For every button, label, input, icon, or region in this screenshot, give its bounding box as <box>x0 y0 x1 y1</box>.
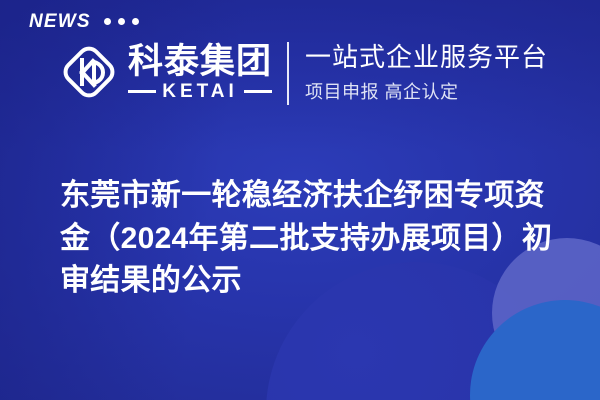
ketai-diamond-kp-monogram-icon <box>58 41 120 103</box>
dot-icon <box>104 18 111 25</box>
tagline-main: 一站式企业服务平台 <box>305 42 548 73</box>
logo-company-name-en: KETAI <box>162 82 238 101</box>
eyebrow-dots-icon <box>104 18 139 25</box>
logo-company-name-cn: 科泰集团 <box>128 44 272 79</box>
logo-en-row: KETAI <box>128 82 272 101</box>
dot-icon <box>132 18 139 25</box>
logo-rule-left <box>128 90 156 93</box>
tagline-sub: 项目申报 高企认定 <box>305 82 548 104</box>
news-banner: NEWS 科泰集团 K <box>0 0 600 400</box>
logo-wordmark: 科泰集团 KETAI <box>128 44 272 101</box>
dot-icon <box>118 18 125 25</box>
tagline-block: 一站式企业服务平台 项目申报 高企认定 <box>305 42 548 103</box>
logo-lockup: 科泰集团 KETAI <box>58 41 272 103</box>
lockup-divider <box>287 42 289 105</box>
eyebrow-row: NEWS <box>29 12 139 31</box>
page-title: 东莞市新一轮稳经济扶企纾困专项资金（2024年第二批支持办展项目）初审结果的公示 <box>60 175 560 303</box>
news-eyebrow-label: NEWS <box>29 12 91 31</box>
logo-rule-right <box>244 90 272 93</box>
